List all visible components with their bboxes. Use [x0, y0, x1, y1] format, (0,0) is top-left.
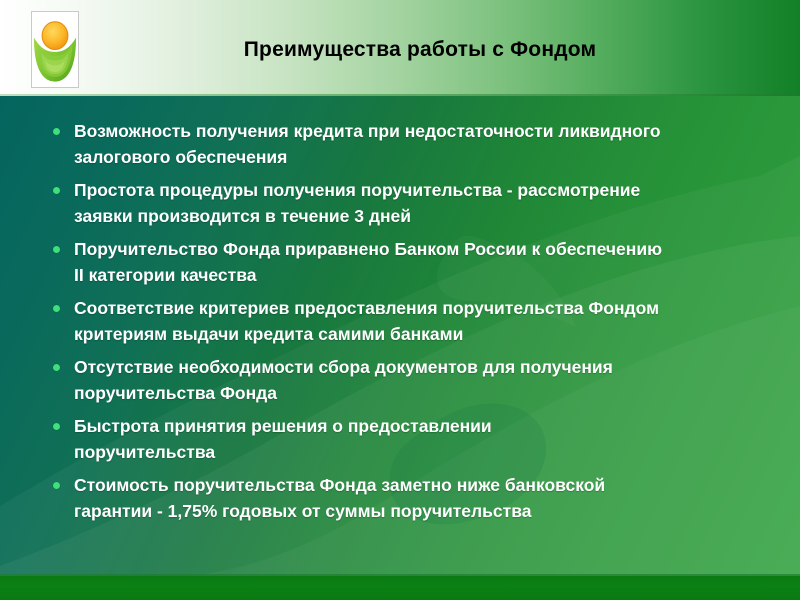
list-item-text: Отсутствие необходимости сбора документо…: [74, 354, 634, 406]
page-title: Преимущества работы с Фондом: [120, 38, 720, 62]
list-item-text: Соответствие критериев предоставления по…: [74, 295, 746, 347]
fund-logo: [31, 11, 79, 88]
bullet-dot-icon: [53, 128, 60, 135]
list-item: Возможность получения кредита при недост…: [48, 118, 684, 170]
bullet-dot-icon: [53, 423, 60, 430]
fund-logo-icon: [32, 12, 78, 87]
list-item: Простота процедуры получения поручительс…: [48, 177, 699, 229]
slide-body: Возможность получения кредита при недост…: [0, 96, 800, 576]
bullet-dot-icon: [53, 187, 60, 194]
list-item-text: Поручительство Фонда приравнено Банком Р…: [74, 236, 674, 288]
bullet-dot-icon: [53, 364, 60, 371]
footer-band: [0, 576, 800, 600]
advantages-list: Возможность получения кредита при недост…: [48, 118, 748, 531]
list-item: Поручительство Фонда приравнено Банком Р…: [48, 236, 674, 288]
list-item-text: Стоимость поручительства Фонда заметно н…: [74, 472, 634, 524]
presentation-slide: Преимущества работы с Фондом Возможность…: [0, 0, 800, 600]
list-item-text: Возможность получения кредита при недост…: [74, 118, 684, 170]
list-item: Стоимость поручительства Фонда заметно н…: [48, 472, 634, 524]
list-item: Быстрота принятия решения о предоставлен…: [48, 413, 614, 465]
list-item-text: Быстрота принятия решения о предоставлен…: [74, 413, 614, 465]
list-item-text: Простота процедуры получения поручительс…: [74, 177, 699, 229]
bullet-dot-icon: [53, 246, 60, 253]
list-item: Отсутствие необходимости сбора документо…: [48, 354, 634, 406]
bullet-dot-icon: [53, 482, 60, 489]
list-item: Соответствие критериев предоставления по…: [48, 295, 746, 347]
bullet-dot-icon: [53, 305, 60, 312]
